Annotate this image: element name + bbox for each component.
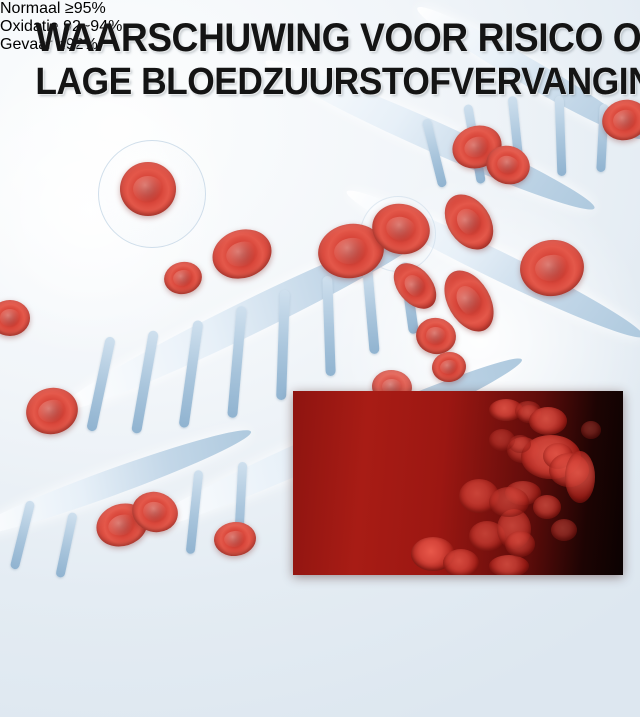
poster-root: WAARSCHUWING VOOR RISICO OP LAGE BLOEDZU… [0, 0, 640, 717]
headline: WAARSCHUWING VOOR RISICO OP LAGE BLOEDZU… [0, 16, 640, 104]
red-blood-cell [212, 520, 257, 558]
headline-line-2: LAGE BLOEDZUURSTOFVERVANGING [35, 60, 604, 104]
red-blood-cell [21, 382, 83, 439]
red-blood-cell [120, 162, 176, 216]
background-artwork [0, 0, 640, 717]
headline-line-1: WAARSCHUWING VOOR RISICO OP [35, 16, 604, 60]
inset-micrograph [293, 391, 623, 575]
